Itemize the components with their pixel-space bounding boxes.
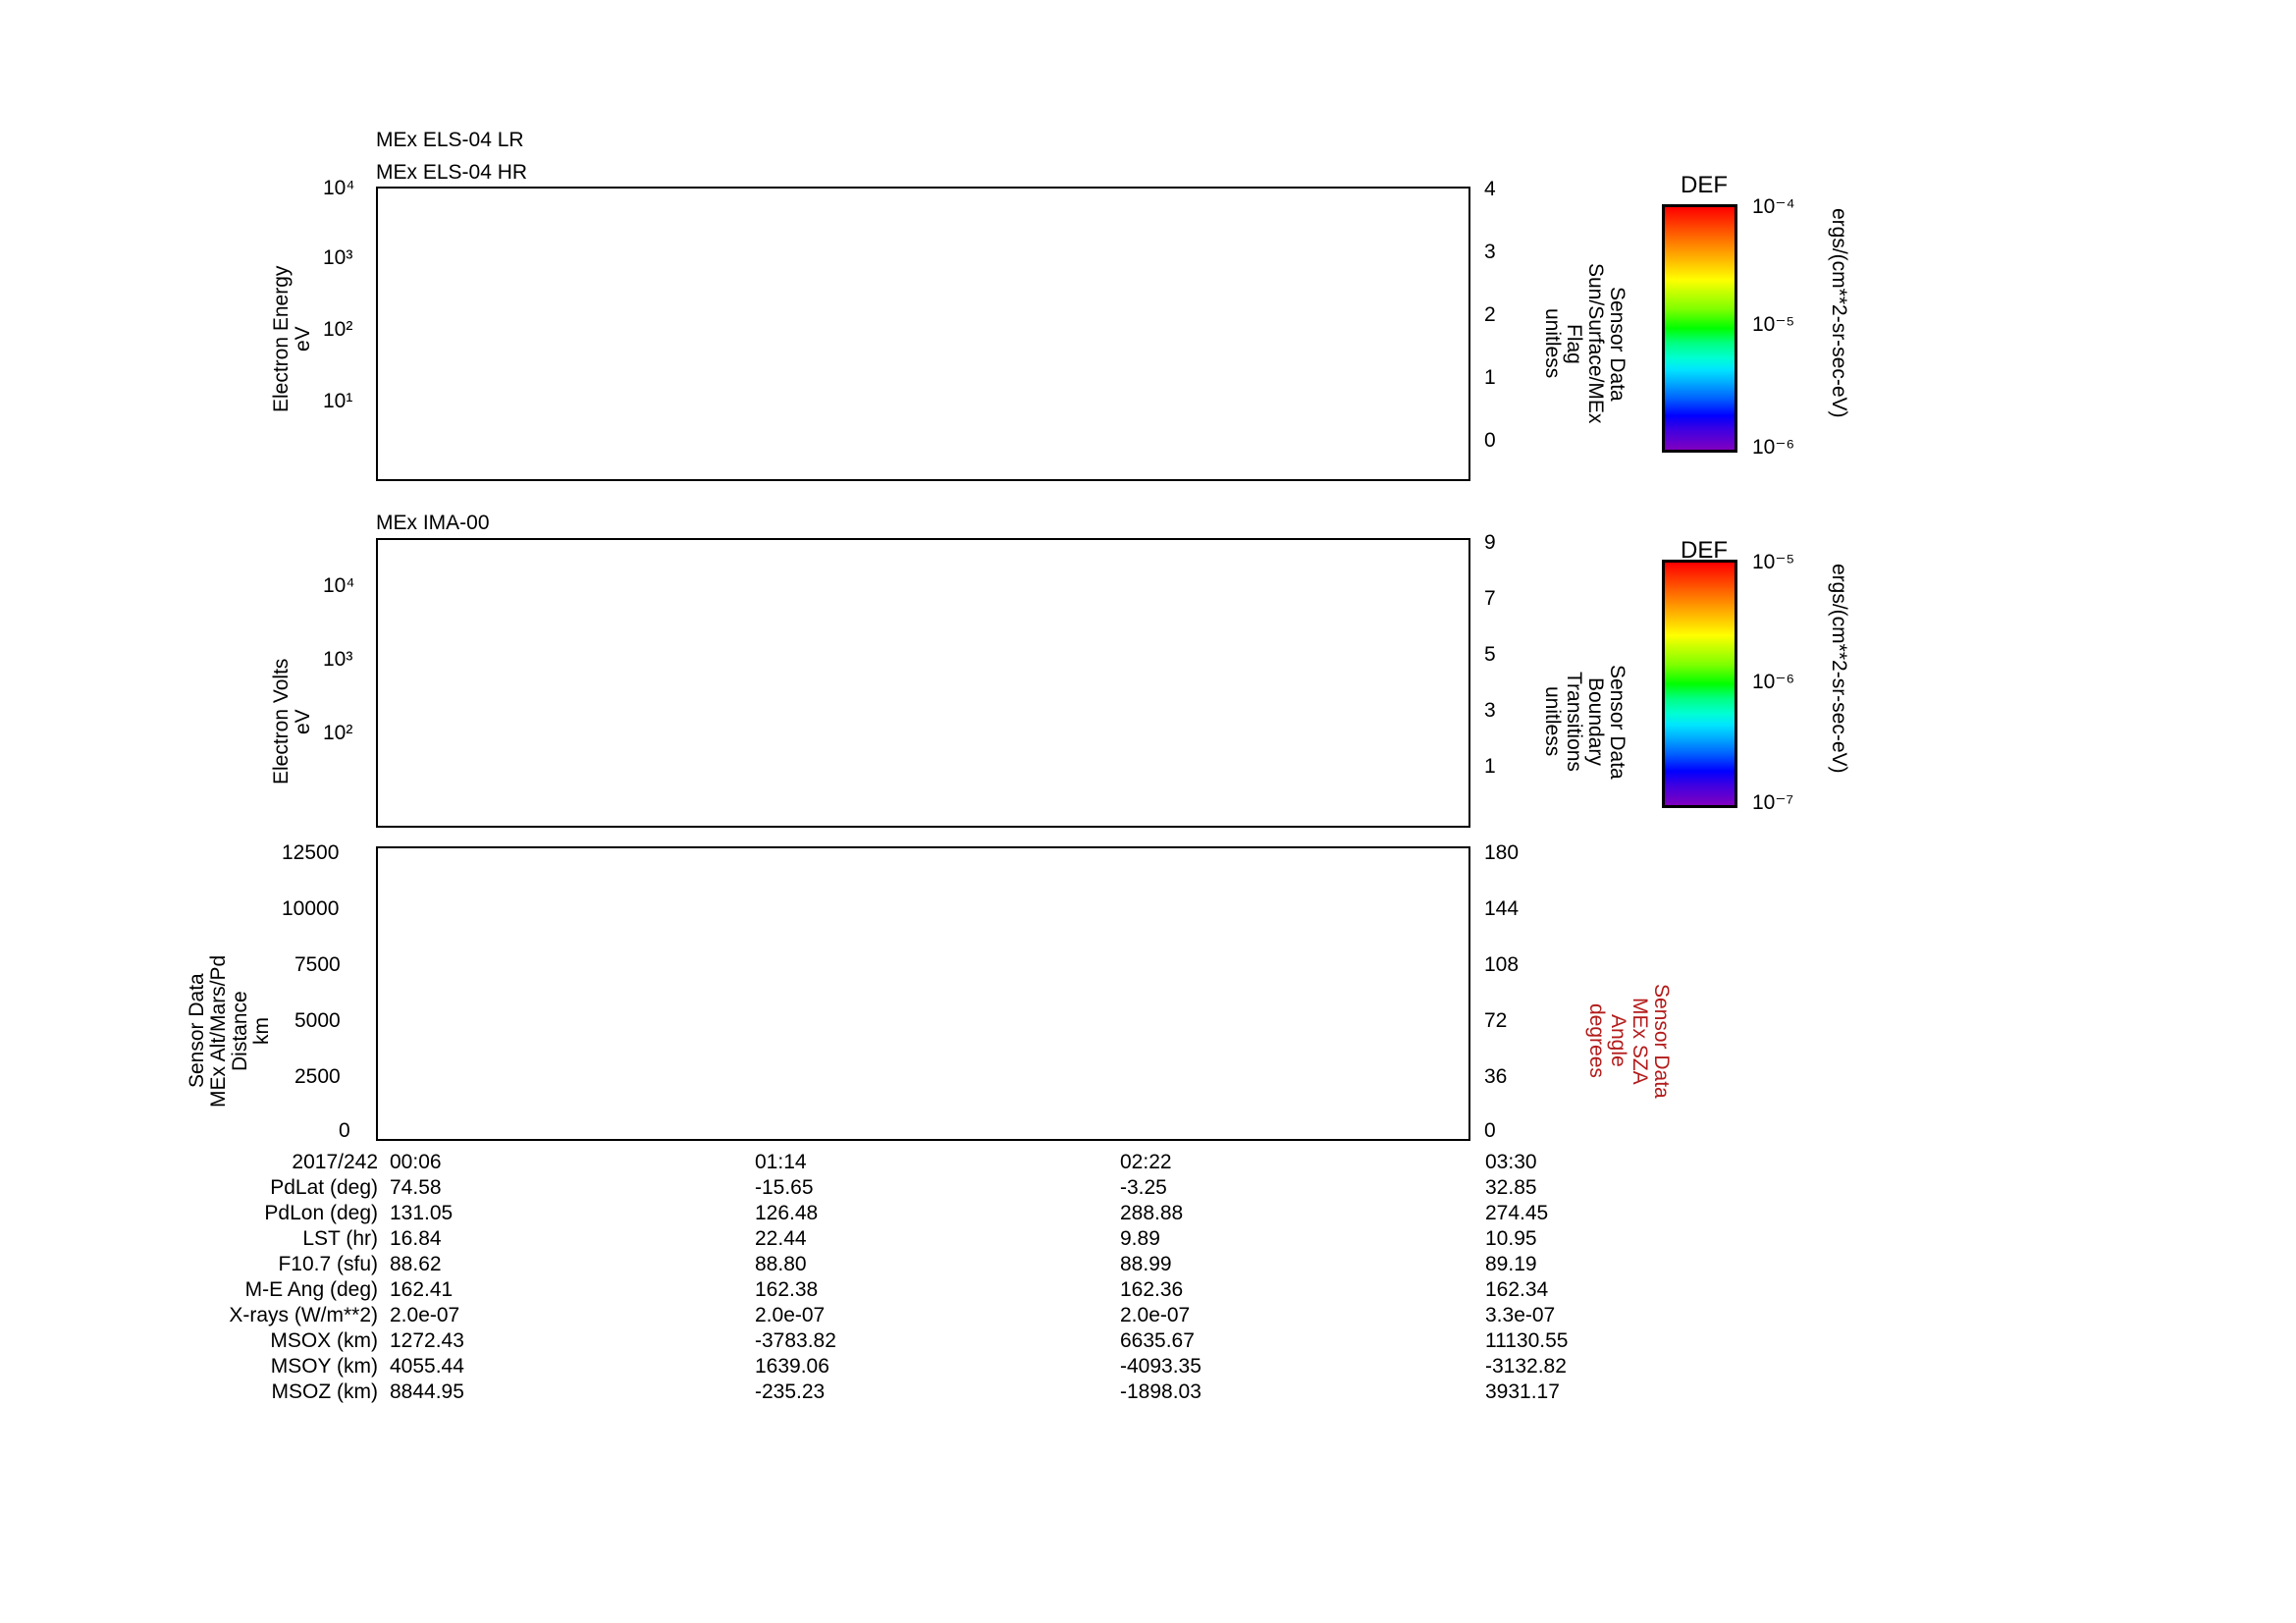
plot-overlay [0,0,2296,1623]
